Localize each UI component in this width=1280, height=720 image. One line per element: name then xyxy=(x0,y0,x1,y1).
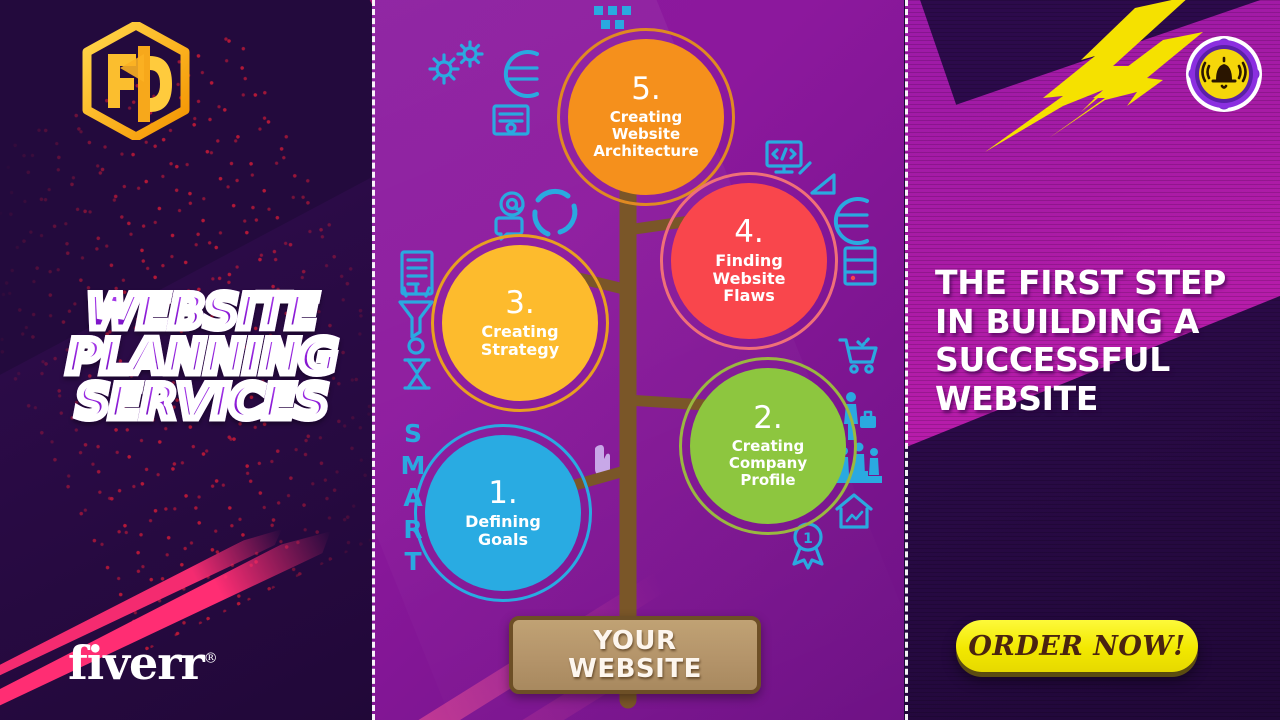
headline-line-1: THE FIRST STEP xyxy=(935,264,1265,303)
order-now-label: ORDER NOW! xyxy=(968,631,1185,662)
step-1-label-2: Goals xyxy=(465,531,541,549)
step-5-label-3: Architecture xyxy=(593,143,698,160)
step-2-label-1: Creating xyxy=(729,438,807,455)
step-node-5[interactable]: 5. Creating Website Architecture xyxy=(568,39,724,195)
alarm-bell-icon[interactable] xyxy=(1178,28,1270,120)
smart-letter-s: S xyxy=(404,418,422,450)
divider-right xyxy=(905,0,908,720)
step-node-3[interactable]: 3. Creating Strategy xyxy=(442,245,598,401)
step-1-number: 1. xyxy=(488,478,518,509)
step-5-label-1: Creating xyxy=(593,109,698,126)
step-5-label-2: Website xyxy=(593,126,698,143)
headline-line-3: SUCCESSFUL xyxy=(935,341,1265,380)
step-node-4[interactable]: 4. Finding Website Flaws xyxy=(671,183,827,339)
step-5-number: 5. xyxy=(631,74,661,105)
step-1-label-1: Defining xyxy=(465,513,541,531)
step-node-2[interactable]: 2. Creating Company Profile xyxy=(690,368,846,524)
registered-trademark-icon: ® xyxy=(204,651,217,667)
step-3-label-1: Creating xyxy=(481,323,559,341)
step-2-label-3: Profile xyxy=(729,472,807,489)
step-2-number: 2. xyxy=(753,403,783,434)
poster-canvas: WEBSITE PLANNING SERVICES fiverr® xyxy=(0,0,1280,720)
lightning-bolt-icon xyxy=(985,0,1205,154)
right-panel-headline: THE FIRST STEP IN BUILDING A SUCCESSFUL … xyxy=(935,264,1265,418)
center-panel: 1 S M A R T 5. Creating xyxy=(372,0,904,720)
fiverr-logo: fiverr® xyxy=(68,636,217,690)
left-panel: WEBSITE PLANNING SERVICES fiverr® xyxy=(0,0,372,720)
step-2-label-2: Company xyxy=(729,455,807,472)
step-4-label-2: Website xyxy=(713,270,786,288)
divider-left xyxy=(372,0,375,720)
step-node-1[interactable]: 1. Defining Goals xyxy=(425,435,581,591)
title-line-3: SERVICES xyxy=(52,380,352,425)
your-website-sign: YOUR WEBSITE xyxy=(509,616,761,694)
headline-line-2: IN BUILDING A xyxy=(935,303,1265,342)
fiverr-wordmark: fiverr xyxy=(68,636,204,690)
step-3-label-2: Strategy xyxy=(481,341,559,359)
sign-line-2: WEBSITE xyxy=(568,655,702,683)
left-panel-title: WEBSITE PLANNING SERVICES xyxy=(52,290,352,425)
title-line-1: WEBSITE xyxy=(52,290,352,335)
sign-line-1: YOUR xyxy=(593,627,676,655)
step-4-label-1: Finding xyxy=(713,252,786,270)
hexagon-logo-icon xyxy=(82,22,190,140)
step-4-number: 4. xyxy=(734,217,764,248)
step-4-label-3: Flaws xyxy=(713,287,786,305)
smart-letter-t: T xyxy=(404,546,421,578)
headline-line-4: WEBSITE xyxy=(935,380,1265,419)
order-now-button[interactable]: ORDER NOW! xyxy=(956,620,1198,672)
title-line-2: PLANNING xyxy=(52,335,352,380)
step-3-number: 3. xyxy=(505,288,535,319)
